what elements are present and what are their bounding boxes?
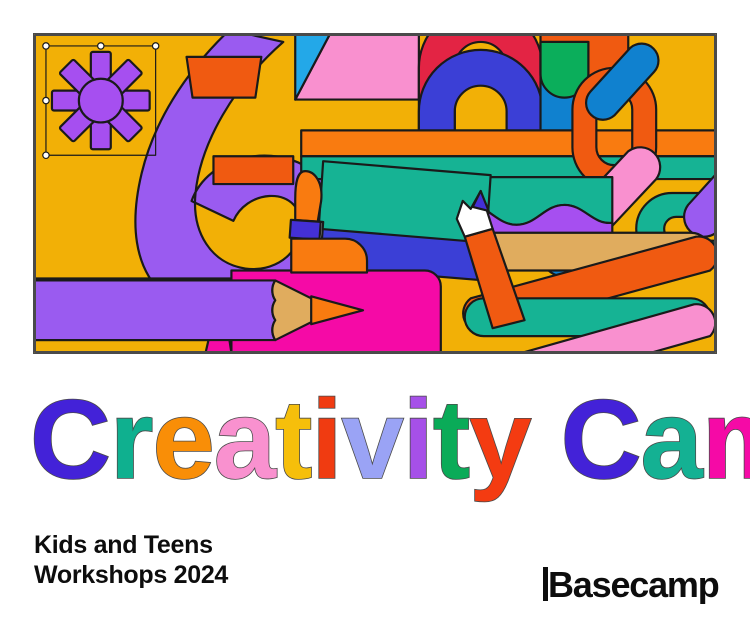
cup-orange-inner [291,239,367,273]
title-letter-8: t [433,377,469,502]
hero-illustration [33,33,717,354]
title-letter-6: v [342,377,404,502]
title-letter-5: i [311,377,341,502]
title-letter-13: m [702,377,750,502]
poster-footer: Kids and Teens Workshops 2024 Basecamp [0,520,750,625]
illustration-canvas [34,34,716,353]
orange-trapezoid [187,57,262,98]
title-letter-12: a [641,377,704,502]
orange-rectangle [213,156,293,184]
purple-asterisk-star [52,52,150,149]
poster-title: Creativity Camp [0,368,750,508]
title-text: Creativity Camp [30,377,750,502]
title-letter-11: C [561,377,641,502]
title-canvas: Creativity Camp [0,368,750,508]
subtitle-text: Kids and Teens Workshops 2024 [34,530,228,590]
title-letter-0: C [30,377,110,502]
title-letter-7: i [403,377,433,502]
title-letter-10 [531,377,561,502]
title-letter-4: t [275,377,311,502]
title-letter-1: r [110,377,153,502]
basecamp-logo: Basecamp [541,564,721,604]
basecamp-wordmark-icon: Basecamp [541,564,721,604]
brand-text: Basecamp [548,564,719,604]
title-letter-9: y [469,377,531,502]
title-letter-3: a [214,377,277,502]
title-letter-2: e [152,377,213,502]
poster-canvas: Creativity Camp Kids and Teens Workshops… [0,0,750,625]
